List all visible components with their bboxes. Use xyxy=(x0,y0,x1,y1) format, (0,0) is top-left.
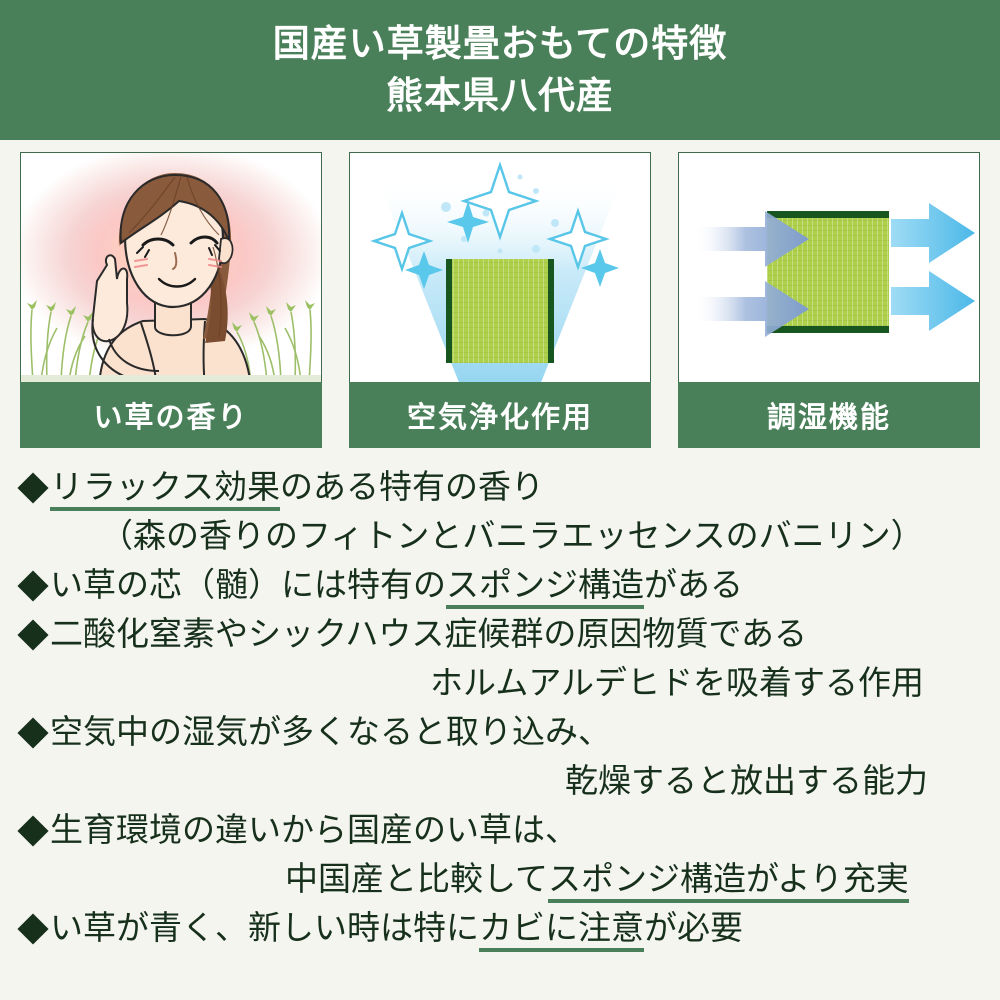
diamond-bullet-icon xyxy=(17,815,48,846)
card-label-humidity-control: 調湿機能 xyxy=(678,382,980,448)
diamond-bullet-icon xyxy=(17,570,48,601)
text-segment: い草が青く、新しい時は特に xyxy=(50,908,479,947)
diamond-bullet-icon xyxy=(17,913,48,944)
highlighted-term: スポンジ構造がより充実 xyxy=(548,859,909,903)
feature-bullet-list: リラックス効果のある特有の香り（森の香りのフィトンとバニラエッセンスのバニリン）… xyxy=(0,462,1000,952)
text-segment: 乾燥すると放出する能力 xyxy=(565,761,928,800)
highlighted-term: カビに注意 xyxy=(479,908,644,952)
humidity-control-illustration xyxy=(678,152,980,382)
fragrance-illustration xyxy=(20,152,322,382)
airflow-arrows-icon xyxy=(679,153,979,382)
feature-card-air-purification[interactable]: 空気浄化作用 xyxy=(349,152,651,448)
card-label-air-purification: 空気浄化作用 xyxy=(349,382,651,448)
highlighted-term: リラックス効果 xyxy=(50,467,280,511)
bullet-line: い草が青く、新しい時は特にカビに注意が必要 xyxy=(0,903,1000,952)
diamond-bullet-icon xyxy=(17,472,48,503)
text-segment: 生育環境の違いから国産のい草は、 xyxy=(50,810,578,849)
text-segment: 中国産と比較して xyxy=(285,859,548,898)
tatami-edge-left xyxy=(446,259,452,363)
text-segment: が必要 xyxy=(644,908,743,947)
text-segment: 二酸化窒素やシックハウス症候群の原因物質である xyxy=(50,614,807,653)
art-floor-strip xyxy=(21,375,321,382)
bullet-line: 空気中の湿気が多くなると取り込み、 xyxy=(0,707,1000,756)
continuation-line: ホルムアルデヒドを吸着する作用 xyxy=(0,658,1000,707)
text-segment: がある xyxy=(644,565,743,604)
text-segment: 空気中の湿気が多くなると取り込み、 xyxy=(50,712,611,751)
continuation-line: （森の香りのフィトンとバニラエッセンスのバニリン） xyxy=(0,511,1000,560)
continuation-line: 中国産と比較してスポンジ構造がより充実 xyxy=(0,854,1000,903)
header-title-line-2: 熊本県八代産 xyxy=(386,70,614,122)
page-header: 国産い草製畳おもての特徴 熊本県八代産 xyxy=(0,0,1000,140)
text-segment: （森の香りのフィトンとバニラエッセンスのバニリン） xyxy=(100,516,924,555)
bullet-line: 生育環境の違いから国産のい草は、 xyxy=(0,805,1000,854)
tatami-mat-vertical xyxy=(448,259,552,363)
diamond-bullet-icon xyxy=(17,619,48,650)
text-segment: い草の芯（髄）には特有の xyxy=(50,565,446,604)
highlighted-term: スポンジ構造 xyxy=(446,565,644,609)
bullet-line: 二酸化窒素やシックハウス症候群の原因物質である xyxy=(0,609,1000,658)
continuation-line: 乾燥すると放出する能力 xyxy=(0,756,1000,805)
feature-card-humidity-control[interactable]: 調湿機能 xyxy=(678,152,980,448)
card-label-fragrance: い草の香り xyxy=(20,382,322,448)
text-segment: のある特有の香り xyxy=(280,467,544,506)
air-purification-illustration xyxy=(349,152,651,382)
feature-card-row: い草の香り xyxy=(0,152,1000,452)
tatami-edge-right xyxy=(548,259,554,363)
bullet-line: い草の芯（髄）には特有のスポンジ構造がある xyxy=(0,560,1000,609)
bullet-line: リラックス効果のある特有の香り xyxy=(0,462,1000,511)
infographic-page: 国産い草製畳おもての特徴 熊本県八代産 xyxy=(0,0,1000,1000)
text-segment: ホルムアルデヒドを吸着する作用 xyxy=(430,663,924,702)
header-title-line-1: 国産い草製畳おもての特徴 xyxy=(273,18,728,70)
relaxing-woman-icon xyxy=(63,161,279,382)
diamond-bullet-icon xyxy=(17,717,48,748)
feature-card-fragrance[interactable]: い草の香り xyxy=(20,152,322,448)
